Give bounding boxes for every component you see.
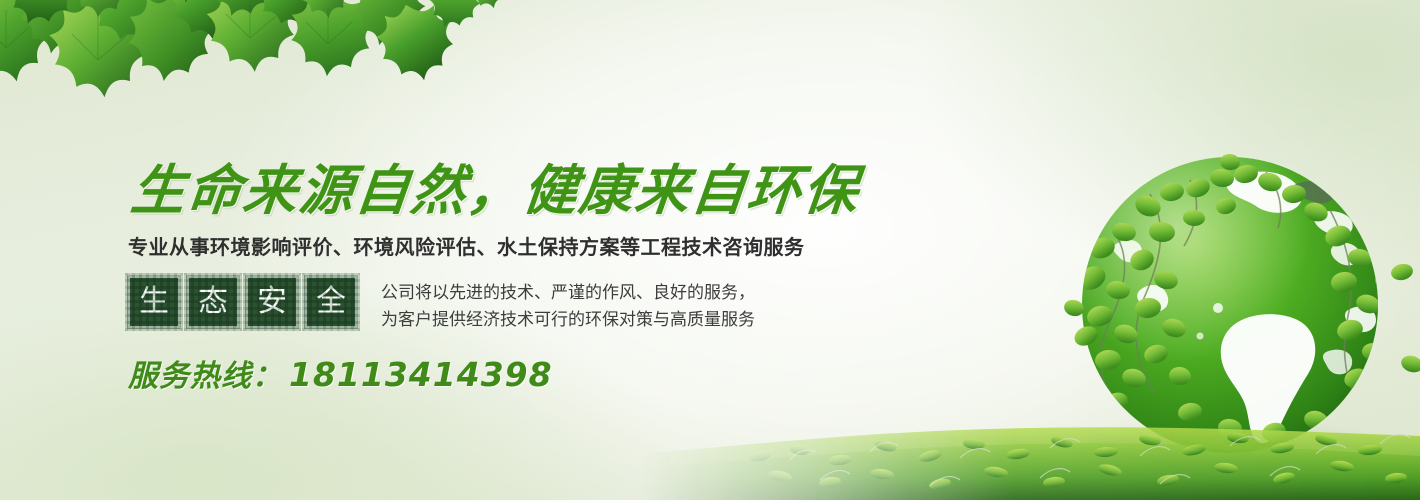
stamp-quan: 全 bbox=[305, 276, 357, 328]
banner-copy: 生命来源自然，健康来自环保 专业从事环境影响评价、环境风险评估、水土保持方案等工… bbox=[128, 160, 888, 396]
green-globe-icon bbox=[1030, 140, 1420, 470]
service-hotline: 服务热线：18113414398 bbox=[128, 356, 888, 396]
stamp-tai: 态 bbox=[187, 276, 239, 328]
hotline-label: 服务热线： bbox=[128, 359, 283, 394]
eco-banner: 生命来源自然，健康来自环保 专业从事环境影响评价、环境风险评估、水土保持方案等工… bbox=[0, 0, 1420, 500]
company-description: 公司将以先进的技术、严谨的作风、良好的服务， 为客户提供经济技术可行的环保对策与… bbox=[381, 276, 755, 334]
stamp-sheng: 生 bbox=[128, 276, 180, 328]
stamps-and-description-row: 生 态 安 全 公司将以先进的技术、严谨的作风、良好的服务， 为客户提供经济技术… bbox=[128, 276, 888, 334]
eco-safety-stamps: 生 态 安 全 bbox=[128, 276, 357, 328]
page-title: 生命来源自然，健康来自环保 bbox=[128, 160, 895, 222]
description-line-1: 公司将以先进的技术、严谨的作风、良好的服务， bbox=[381, 280, 755, 307]
hotline-number[interactable]: 18113414398 bbox=[289, 355, 553, 394]
ivy-leaves-icon bbox=[0, 0, 560, 142]
stamp-an: 安 bbox=[246, 276, 298, 328]
description-line-2: 为客户提供经济技术可行的环保对策与高质量服务 bbox=[381, 307, 755, 334]
grass-bed-icon bbox=[640, 390, 1420, 500]
banner-subtitle: 专业从事环境影响评价、环境风险评估、水土保持方案等工程技术咨询服务 bbox=[128, 234, 888, 260]
